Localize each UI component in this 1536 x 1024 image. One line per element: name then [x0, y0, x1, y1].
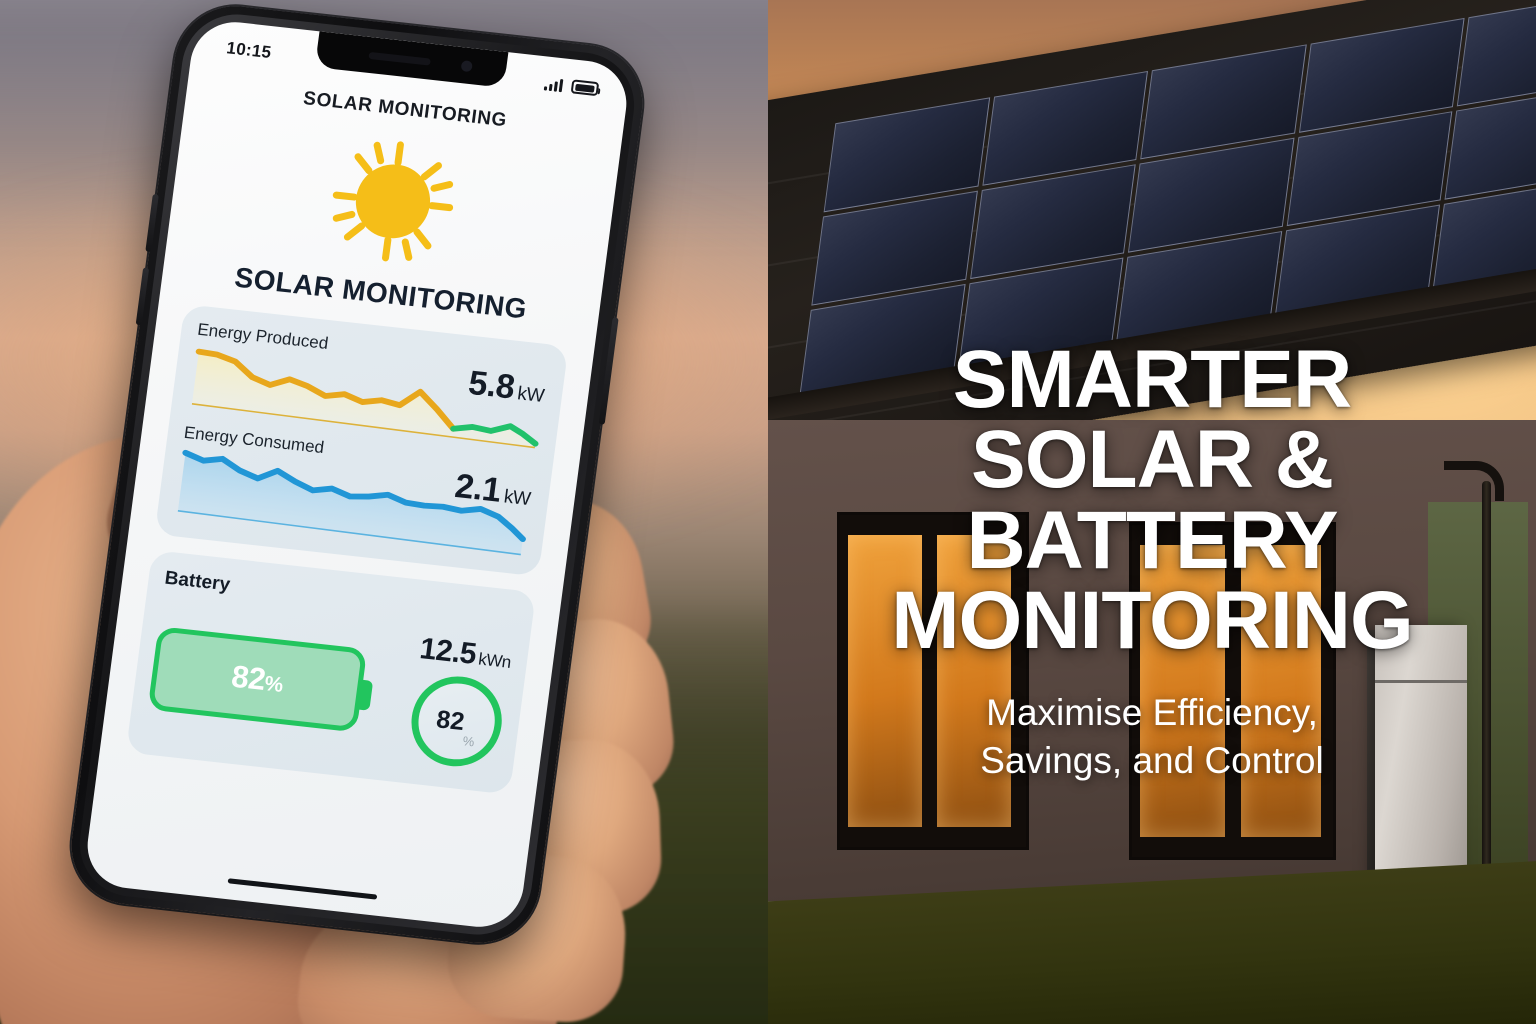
battery-card[interactable]: Battery 82% 12.5kWn — [126, 550, 536, 795]
status-indicators — [544, 76, 600, 96]
promo-text-overlay: SMARTER SOLAR & BATTERY MONITORING Maxim… — [768, 0, 1536, 1024]
metric-value: 5.8kW — [466, 364, 547, 411]
status-time: 10:15 — [225, 38, 272, 63]
gauge-value: 82 — [435, 705, 466, 737]
battery-level-unit: % — [263, 672, 284, 697]
headline-line-2: SOLAR & — [971, 420, 1333, 500]
signal-bars-icon — [544, 76, 564, 92]
battery-capacity-unit: kWn — [477, 649, 512, 671]
energy-card[interactable]: Energy Produced 5.8kW — [154, 304, 568, 576]
battery-level-label: 82% — [229, 659, 285, 700]
metric-unit: kW — [516, 383, 545, 407]
battery-level-bar: 82% — [148, 626, 368, 732]
metric-value: 2.1kW — [453, 467, 534, 514]
headline-line-3: BATTERY — [966, 501, 1337, 581]
phone-photo-panel: 10:15 SOLAR MONITORING — [0, 0, 768, 1024]
headline-line-1: SMARTER — [953, 340, 1351, 420]
battery-icon — [571, 79, 600, 96]
subtitle: Maximise Efficiency, Savings, and Contro… — [980, 689, 1323, 784]
house-photo-panel: SMARTER SOLAR & BATTERY MONITORING Maxim… — [768, 0, 1536, 1024]
sun-icon — [193, 116, 594, 287]
promo-banner: 10:15 SOLAR MONITORING — [0, 0, 1536, 1024]
battery-body: 82% 12.5kWn 82 % — [145, 603, 514, 771]
metric-unit: kW — [503, 486, 532, 510]
headline-line-4: MONITORING — [891, 581, 1412, 661]
subtitle-line-2: Savings, and Control — [980, 737, 1323, 784]
battery-capacity-value: 12.5kWn — [418, 632, 514, 676]
subtitle-line-1: Maximise Efficiency, — [980, 689, 1323, 736]
battery-charge-gauge: 82 % — [406, 672, 507, 771]
battery-capacity-group: 12.5kWn 82 % — [405, 632, 513, 771]
gauge-unit: % — [462, 733, 475, 749]
